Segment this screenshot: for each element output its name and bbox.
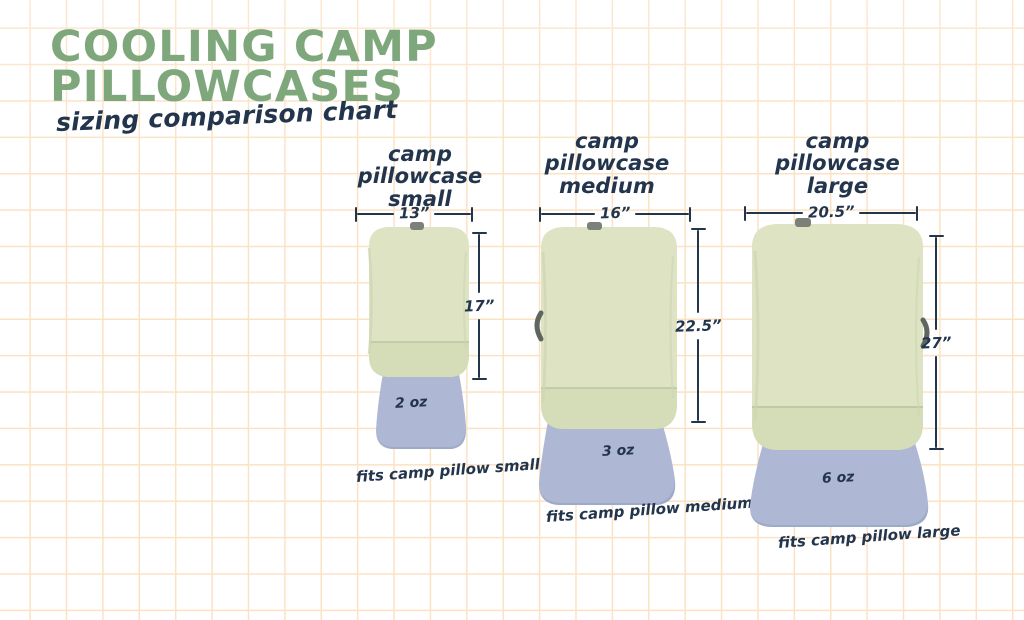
page-title: Cooling Camp Pillowcases	[50, 28, 520, 107]
product-name-small: camp pillowcase small	[330, 143, 510, 210]
pillowcase-illustration-small	[352, 218, 482, 478]
dimension-bar	[434, 213, 471, 215]
product-name-medium: camp pillowcase medium	[512, 130, 702, 197]
pillowcase-illustration-medium	[515, 218, 700, 518]
dimension-bar	[746, 212, 803, 214]
hang-tab-icon-large	[795, 218, 811, 227]
chart-stage: Cooling Camp Pillowcases sizing comparis…	[0, 0, 1024, 620]
dimension-cap-icon	[929, 448, 944, 450]
pillowcase-hem-small	[369, 342, 469, 377]
pillowcase-hem-large	[752, 407, 923, 450]
dimension-bar	[541, 213, 595, 215]
dimension-bar	[478, 234, 480, 293]
height-value-medium: 22.5”	[674, 312, 722, 340]
dimension-bar	[859, 212, 916, 214]
dimension-bar	[697, 230, 699, 313]
dimension-bar	[478, 319, 480, 378]
dimension-bar	[697, 339, 699, 422]
product-name-large: camp pillowcase large	[740, 130, 935, 197]
height-value-small: 17”	[463, 292, 494, 319]
weight-label-large: 6 oz	[822, 469, 855, 487]
pillowcase-hem-medium	[541, 388, 677, 429]
hang-tab-icon-small	[410, 222, 424, 230]
side-loop-icon-medium	[537, 313, 541, 339]
weight-label-small: 2 oz	[395, 394, 428, 412]
height-dimension-small: 17”	[468, 232, 490, 380]
dimension-bar	[935, 237, 937, 330]
dimension-cap-icon	[691, 421, 706, 423]
height-dimension-large: 27”	[925, 235, 947, 450]
height-value-large: 27”	[920, 329, 951, 356]
dimension-bar	[635, 213, 689, 215]
height-dimension-medium: 22.5”	[687, 228, 709, 423]
dimension-bar	[935, 356, 937, 449]
dimension-cap-icon	[472, 378, 487, 380]
pillowcase-illustration-large	[735, 215, 945, 535]
weight-label-medium: 3 oz	[602, 442, 635, 460]
hang-tab-icon-medium	[587, 222, 602, 230]
dimension-bar	[357, 213, 394, 215]
